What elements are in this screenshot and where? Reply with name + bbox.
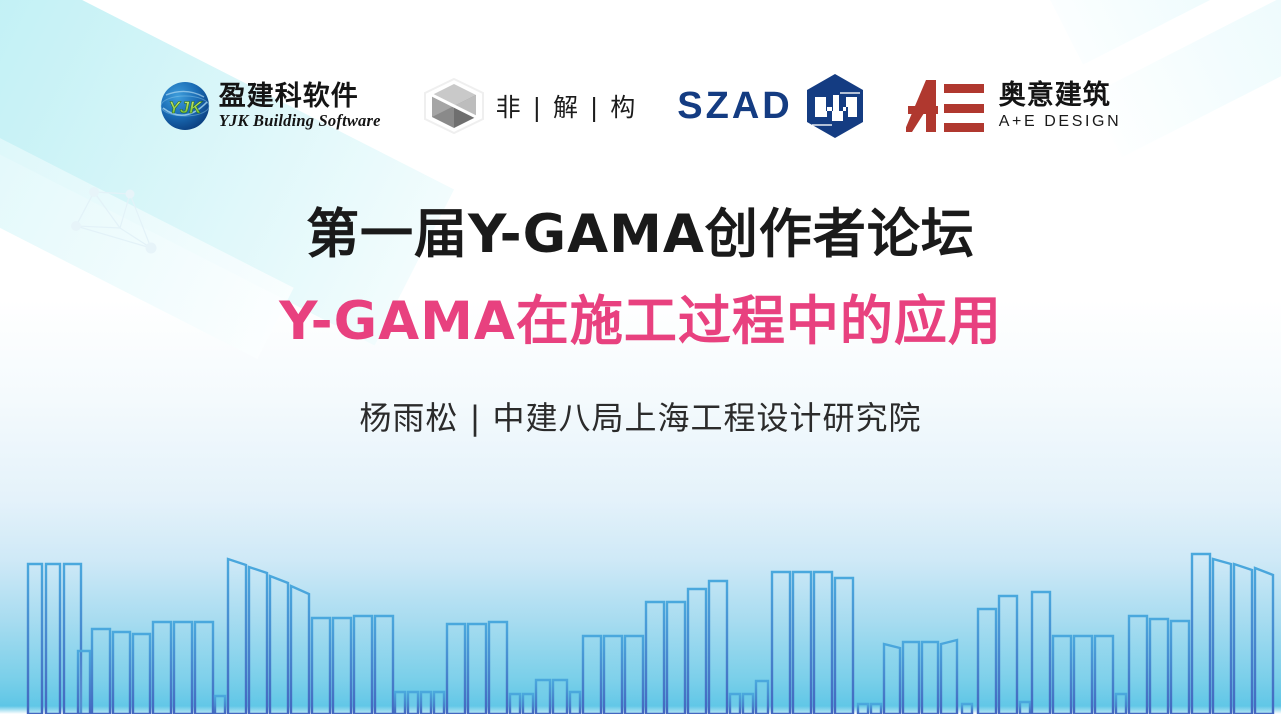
logo-szad: SZAD (677, 73, 865, 139)
logo-szad-label: SZAD (677, 85, 792, 128)
skyline-building (523, 694, 533, 714)
skyline-building (421, 692, 431, 714)
skyline-building (793, 572, 811, 714)
skyline-building (1129, 616, 1147, 714)
talk-title: Y-GAMA在施工过程中的应用 (0, 292, 1281, 353)
skyline-building (174, 622, 192, 714)
skyline-building (772, 572, 790, 714)
skyline-building (195, 622, 213, 714)
skyline-building (228, 559, 246, 714)
skyline-building (249, 567, 267, 714)
skyline-building (756, 681, 768, 714)
skyline-building (553, 680, 567, 714)
skyline-building (835, 578, 853, 714)
skyline-building (604, 636, 622, 714)
skyline-building (922, 642, 938, 714)
skyline-building (536, 680, 550, 714)
skyline-building (730, 694, 740, 714)
skyline-building (1032, 592, 1050, 714)
svg-text:YJK: YJK (168, 98, 203, 117)
logo-yjk-en-label: YJK Building Software (219, 113, 381, 130)
skyline-building (1234, 564, 1252, 714)
forum-title: 第一届Y-GAMA创作者论坛 (0, 205, 1281, 266)
skyline-building (583, 636, 601, 714)
skyline-building (408, 692, 418, 714)
skyline-building (884, 644, 900, 714)
skyline-building (312, 618, 330, 714)
cube-icon (421, 77, 487, 135)
sponsor-logo-row: YJK 盈建科软件 YJK Building Software 非 | 解 | … (0, 68, 1281, 144)
skyline-building (743, 694, 753, 714)
skyline-building (978, 609, 996, 714)
skyline-building (1192, 554, 1210, 714)
skyline-building (903, 642, 919, 714)
logo-feijiegou: 非 | 解 | 构 (421, 77, 638, 135)
skyline-building (814, 572, 832, 714)
logo-ae-en-label: A+E DESIGN (999, 114, 1121, 130)
skyline-building (1150, 619, 1168, 714)
skyline-building (270, 576, 288, 714)
skyline-building (133, 634, 150, 714)
ae-monogram-icon (906, 78, 986, 134)
skyline-building (510, 694, 520, 714)
city-skyline-graphic (0, 514, 1281, 714)
skyline-building (153, 622, 171, 714)
skyline-building (1053, 636, 1071, 714)
skyline-building (333, 618, 351, 714)
logo-ae-cn-label: 奥意建筑 (999, 82, 1121, 109)
skyline-building (570, 692, 580, 714)
skyline-building (1074, 636, 1092, 714)
yjk-globe-icon: YJK (160, 81, 210, 131)
skyline-building (468, 624, 486, 714)
skyline-building (1255, 568, 1273, 714)
skyline-building (395, 692, 405, 714)
skyline-building (447, 624, 465, 714)
skyline-building (28, 564, 42, 714)
skyline-building (1213, 559, 1231, 714)
skyline-building (625, 636, 643, 714)
logo-feijiegou-label: 非 | 解 | 构 (496, 88, 638, 124)
skyline-building (709, 581, 727, 714)
skyline-building (291, 586, 309, 714)
skyline-building (78, 651, 90, 714)
logo-yjk-cn-label: 盈建科软件 (219, 83, 381, 110)
hexagon-icon (804, 73, 866, 139)
skyline-building (1095, 636, 1113, 714)
skyline-building (999, 596, 1017, 714)
skyline-building (667, 602, 685, 714)
logo-ae-design: 奥意建筑 A+E DESIGN (906, 78, 1121, 134)
skyline-building (1020, 702, 1030, 714)
skyline-building (941, 640, 957, 714)
logo-yjk: YJK 盈建科软件 YJK Building Software (160, 81, 381, 131)
skyline-building (113, 632, 130, 714)
skyline-building (646, 602, 664, 714)
skyline-building (375, 616, 393, 714)
presenter-line: 杨雨松 | 中建八局上海工程设计研究院 (0, 393, 1281, 439)
skyline-building (92, 629, 110, 714)
skyline-building (688, 589, 706, 714)
skyline-building (858, 704, 868, 714)
skyline-building (354, 616, 372, 714)
title-block: 第一届Y-GAMA创作者论坛 Y-GAMA在施工过程中的应用 杨雨松 | 中建八… (0, 205, 1281, 439)
skyline-building (215, 696, 225, 714)
skyline-building (434, 692, 444, 714)
skyline-building (46, 564, 60, 714)
skyline-building (1116, 694, 1126, 714)
skyline-building (1171, 621, 1189, 714)
skyline-building (871, 704, 881, 714)
skyline-building (489, 622, 507, 714)
title-slide: YJK 盈建科软件 YJK Building Software 非 | 解 | … (0, 0, 1281, 721)
skyline-building (962, 704, 972, 714)
